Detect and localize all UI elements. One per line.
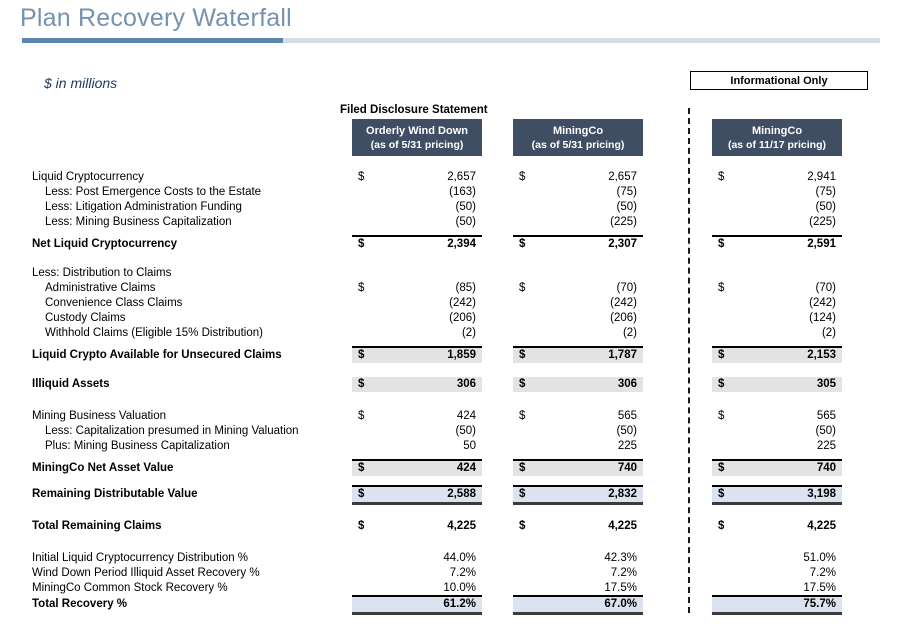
cell-value: 2,307: [608, 237, 637, 252]
value-cell: (50): [352, 200, 482, 215]
row-label: Withhold Claims (Eligible 15% Distributi…: [45, 326, 263, 341]
cell-value: 44.0%: [443, 551, 476, 566]
value-cell: 44.0%: [352, 551, 482, 566]
row-label: Less: Mining Business Capitalization: [45, 215, 232, 230]
currency-symbol: $: [358, 281, 364, 296]
value-cell: $565: [712, 409, 842, 424]
cell-value: (50): [456, 215, 476, 230]
table-row: Less: Distribution to Claims: [0, 266, 898, 281]
cell-value: 17.5%: [604, 581, 637, 596]
row-label: Net Liquid Cryptocurrency: [32, 237, 177, 252]
informational-only-badge: Informational Only: [690, 71, 868, 90]
row-label: MiningCo Common Stock Recovery %: [32, 581, 228, 596]
row-label: Administrative Claims: [45, 281, 156, 296]
row-label: Less: Distribution to Claims: [32, 266, 171, 281]
cell-value: 42.3%: [604, 551, 637, 566]
row-label: Total Remaining Claims: [32, 519, 162, 534]
table-row: Illiquid Assets$306$306$305: [0, 377, 898, 392]
value-cell: (50): [712, 424, 842, 439]
table-row: Withhold Claims (Eligible 15% Distributi…: [0, 326, 898, 341]
table-row: Convenience Class Claims(242)(242)(242): [0, 296, 898, 311]
value-cell: (206): [352, 311, 482, 326]
cell-value: (206): [610, 311, 637, 326]
cell-value: 1,859: [447, 348, 476, 363]
currency-symbol: $: [519, 281, 525, 296]
value-cell: $2,941: [712, 170, 842, 185]
column-header-line2: (as of 5/31 pricing): [532, 138, 625, 152]
title-rule-strong: [22, 38, 283, 43]
cell-value: 2,588: [447, 487, 476, 502]
row-label: Mining Business Valuation: [32, 409, 166, 424]
value-cell: 17.5%: [712, 581, 842, 596]
column-header-3: MiningCo(as of 11/17 pricing): [712, 119, 842, 156]
cell-value: 424: [457, 409, 476, 424]
currency-symbol: $: [718, 409, 724, 424]
column-header-line2: (as of 11/17 pricing): [728, 138, 826, 152]
cell-value: (225): [610, 215, 637, 230]
cell-value: (242): [449, 296, 476, 311]
value-cell: 225: [513, 439, 643, 454]
value-cell: 51.0%: [712, 551, 842, 566]
cell-value: 2,941: [807, 170, 836, 185]
row-label: Wind Down Period Illiquid Asset Recovery…: [32, 566, 260, 581]
table-row: Net Liquid Cryptocurrency$2,394$2,307$2,…: [0, 237, 898, 252]
cell-value: (50): [456, 424, 476, 439]
cell-value: (50): [816, 424, 836, 439]
value-cell: $1,859: [352, 348, 482, 363]
cell-value: 2,591: [807, 237, 836, 252]
value-cell: (50): [352, 215, 482, 230]
currency-symbol: $: [519, 461, 525, 476]
cell-value: 2,153: [807, 348, 836, 363]
cell-value: (50): [456, 200, 476, 215]
table-row: Initial Liquid Cryptocurrency Distributi…: [0, 551, 898, 566]
cell-value: 565: [817, 409, 836, 424]
cell-value: 740: [817, 461, 836, 476]
currency-symbol: $: [718, 377, 724, 392]
value-cell: [712, 266, 842, 281]
currency-symbol: $: [718, 281, 724, 296]
cell-value: (242): [809, 296, 836, 311]
value-cell: 50: [352, 439, 482, 454]
cell-value: 17.5%: [803, 581, 836, 596]
value-cell: 75.7%: [712, 597, 842, 612]
value-cell: 7.2%: [352, 566, 482, 581]
currency-symbol: $: [718, 461, 724, 476]
column-header-1: Orderly Wind Down(as of 5/31 pricing): [352, 119, 482, 156]
row-label: Illiquid Assets: [32, 377, 110, 392]
plan-recovery-waterfall-page: Plan Recovery Waterfall $ in millions In…: [0, 0, 898, 624]
value-cell: 10.0%: [352, 581, 482, 596]
currency-symbol: $: [358, 409, 364, 424]
currency-symbol: $: [519, 237, 525, 252]
column-header-2: MiningCo(as of 5/31 pricing): [513, 119, 643, 156]
value-cell: $424: [352, 409, 482, 424]
cell-value: 305: [817, 377, 836, 392]
currency-symbol: $: [358, 461, 364, 476]
row-label: Liquid Cryptocurrency: [32, 170, 144, 185]
cell-value: (2): [623, 326, 637, 341]
currency-symbol: $: [718, 348, 724, 363]
cell-value: (70): [816, 281, 836, 296]
cell-value: 740: [618, 461, 637, 476]
cell-value: 75.7%: [803, 597, 836, 612]
value-cell: $4,225: [712, 519, 842, 534]
currency-symbol: $: [358, 487, 364, 502]
currency-symbol: $: [519, 487, 525, 502]
row-label: Less: Capitalization presumed in Mining …: [45, 424, 299, 439]
cell-value: (50): [617, 200, 637, 215]
cell-value: (242): [610, 296, 637, 311]
value-cell: (2): [352, 326, 482, 341]
cell-value: 225: [817, 439, 836, 454]
cell-value: 50: [463, 439, 476, 454]
value-cell: $2,307: [513, 237, 643, 252]
value-cell: $4,225: [352, 519, 482, 534]
value-cell: $2,591: [712, 237, 842, 252]
value-cell: $306: [352, 377, 482, 392]
currency-symbol: $: [519, 170, 525, 185]
value-cell: $2,657: [352, 170, 482, 185]
value-cell: (225): [712, 215, 842, 230]
value-cell: $424: [352, 461, 482, 476]
cell-value: (50): [617, 424, 637, 439]
cell-value: 67.0%: [604, 597, 637, 612]
column-header-line1: MiningCo: [752, 124, 802, 138]
value-cell: 7.2%: [513, 566, 643, 581]
value-cell: $2,832: [513, 487, 643, 502]
currency-symbol: $: [718, 487, 724, 502]
currency-symbol: $: [358, 170, 364, 185]
row-label: Custody Claims: [45, 311, 126, 326]
value-cell: $(70): [513, 281, 643, 296]
table-row: Less: Litigation Administration Funding(…: [0, 200, 898, 215]
value-cell: 61.2%: [352, 597, 482, 612]
value-cell: $2,588: [352, 487, 482, 502]
value-cell: $2,394: [352, 237, 482, 252]
value-cell: (124): [712, 311, 842, 326]
value-cell: [352, 266, 482, 281]
currency-symbol: $: [718, 170, 724, 185]
row-label: Less: Post Emergence Costs to the Estate: [45, 185, 261, 200]
filed-disclosure-statement-caption: Filed Disclosure Statement: [340, 104, 488, 116]
column-header-line2: (as of 5/31 pricing): [371, 138, 464, 152]
value-cell: $306: [513, 377, 643, 392]
value-cell: (2): [712, 326, 842, 341]
row-label: Liquid Crypto Available for Unsecured Cl…: [32, 348, 282, 363]
currency-symbol: $: [358, 519, 364, 534]
cell-value: (75): [816, 185, 836, 200]
value-cell: $1,787: [513, 348, 643, 363]
value-cell: $740: [513, 461, 643, 476]
cell-value: (2): [462, 326, 476, 341]
cell-value: (70): [617, 281, 637, 296]
currency-symbol: $: [519, 377, 525, 392]
value-cell: 225: [712, 439, 842, 454]
cell-value: 4,225: [807, 519, 836, 534]
cell-value: (124): [809, 311, 836, 326]
value-cell: $565: [513, 409, 643, 424]
table-row: Total Recovery %61.2%67.0%75.7%: [0, 597, 898, 612]
value-cell: (206): [513, 311, 643, 326]
value-cell: (75): [513, 185, 643, 200]
currency-symbol: $: [519, 409, 525, 424]
value-cell: (75): [712, 185, 842, 200]
value-cell: 17.5%: [513, 581, 643, 596]
table-row: Less: Capitalization presumed in Mining …: [0, 424, 898, 439]
cell-value: (206): [449, 311, 476, 326]
cell-value: 7.2%: [450, 566, 476, 581]
cell-value: 2,832: [608, 487, 637, 502]
cell-value: (2): [822, 326, 836, 341]
cell-value: 2,657: [608, 170, 637, 185]
cell-value: (225): [809, 215, 836, 230]
cell-value: 2,657: [447, 170, 476, 185]
cell-value: 306: [457, 377, 476, 392]
value-cell: (50): [513, 200, 643, 215]
value-cell: (163): [352, 185, 482, 200]
cell-value: (50): [816, 200, 836, 215]
table-row: Total Remaining Claims$4,225$4,225$4,225: [0, 519, 898, 534]
cell-value: 225: [618, 439, 637, 454]
value-cell: $305: [712, 377, 842, 392]
cell-value: (85): [456, 281, 476, 296]
cell-value: 2,394: [447, 237, 476, 252]
cell-value: 4,225: [447, 519, 476, 534]
currency-symbol: $: [718, 237, 724, 252]
value-cell: $2,657: [513, 170, 643, 185]
table-row: Custody Claims(206)(206)(124): [0, 311, 898, 326]
cell-value: 3,198: [807, 487, 836, 502]
cell-value: 7.2%: [611, 566, 637, 581]
value-cell: (50): [712, 200, 842, 215]
value-cell: (2): [513, 326, 643, 341]
cell-value: 51.0%: [803, 551, 836, 566]
table-row: MiningCo Common Stock Recovery %10.0%17.…: [0, 581, 898, 596]
cell-value: 7.2%: [810, 566, 836, 581]
value-cell: [513, 266, 643, 281]
table-row: Less: Mining Business Capitalization(50)…: [0, 215, 898, 230]
row-label: Convenience Class Claims: [45, 296, 182, 311]
table-row: MiningCo Net Asset Value$424$740$740: [0, 461, 898, 476]
cell-value: 306: [618, 377, 637, 392]
value-cell: (242): [712, 296, 842, 311]
value-cell: (242): [513, 296, 643, 311]
table-row: Mining Business Valuation$424$565$565: [0, 409, 898, 424]
table-row: Less: Post Emergence Costs to the Estate…: [0, 185, 898, 200]
cell-value: (163): [449, 185, 476, 200]
table-row: Administrative Claims$(85)$(70)$(70): [0, 281, 898, 296]
table-row: Remaining Distributable Value$2,588$2,83…: [0, 487, 898, 502]
value-cell: $(85): [352, 281, 482, 296]
value-cell: (50): [352, 424, 482, 439]
value-cell: 42.3%: [513, 551, 643, 566]
cell-value: 424: [457, 461, 476, 476]
column-header-line1: MiningCo: [553, 124, 603, 138]
currency-symbol: $: [358, 348, 364, 363]
row-label: Plus: Mining Business Capitalization: [45, 439, 230, 454]
value-cell: $4,225: [513, 519, 643, 534]
value-cell: (225): [513, 215, 643, 230]
value-cell: (50): [513, 424, 643, 439]
row-label: Remaining Distributable Value: [32, 487, 198, 502]
units-note: $ in millions: [44, 75, 117, 91]
table-row: Liquid Cryptocurrency$2,657$2,657$2,941: [0, 170, 898, 185]
value-cell: $740: [712, 461, 842, 476]
cell-value: 565: [618, 409, 637, 424]
currency-symbol: $: [358, 237, 364, 252]
cell-value: 10.0%: [443, 581, 476, 596]
cell-value: 4,225: [608, 519, 637, 534]
row-label: MiningCo Net Asset Value: [32, 461, 173, 476]
page-title: Plan Recovery Waterfall: [20, 4, 292, 33]
currency-symbol: $: [519, 348, 525, 363]
currency-symbol: $: [358, 377, 364, 392]
value-cell: $3,198: [712, 487, 842, 502]
cell-value: (75): [617, 185, 637, 200]
row-label: Total Recovery %: [32, 597, 127, 612]
value-cell: (242): [352, 296, 482, 311]
row-label: Initial Liquid Cryptocurrency Distributi…: [32, 551, 248, 566]
currency-symbol: $: [519, 519, 525, 534]
value-cell: $(70): [712, 281, 842, 296]
table-row: Wind Down Period Illiquid Asset Recovery…: [0, 566, 898, 581]
cell-value: 1,787: [608, 348, 637, 363]
table-row: Liquid Crypto Available for Unsecured Cl…: [0, 348, 898, 363]
column-header-line1: Orderly Wind Down: [366, 124, 468, 138]
cell-value: 61.2%: [443, 597, 476, 612]
value-cell: 7.2%: [712, 566, 842, 581]
table-row: Plus: Mining Business Capitalization5022…: [0, 439, 898, 454]
value-cell: $2,153: [712, 348, 842, 363]
value-cell: 67.0%: [513, 597, 643, 612]
row-label: Less: Litigation Administration Funding: [45, 200, 242, 215]
currency-symbol: $: [718, 519, 724, 534]
